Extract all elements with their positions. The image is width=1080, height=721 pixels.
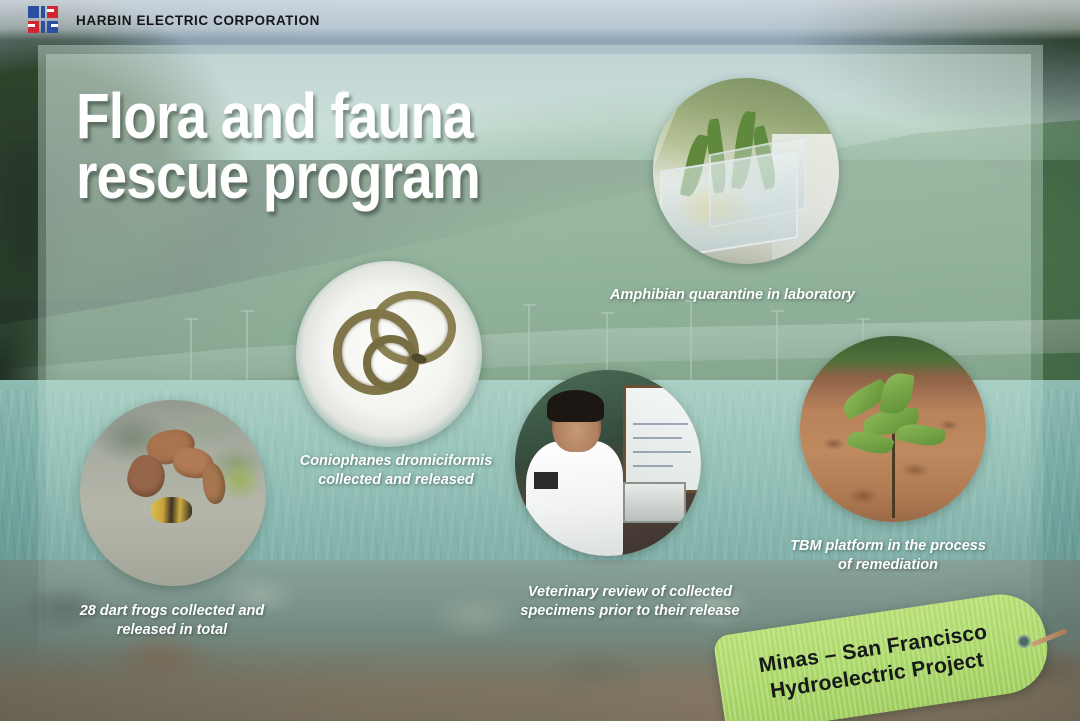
caption-veterinary-review: Veterinary review of collected specimens… [492,583,768,621]
photo-dart-frogs [80,400,266,586]
caption-vet-line-2: specimens prior to their release [520,603,739,619]
caption-tbm-remediation: TBM platform in the process of remediati… [762,537,1014,575]
caption-seed-line-1: TBM platform in the process [790,538,986,554]
photo-amphibian-quarantine [653,78,839,264]
caption-snake-line-2: collected and released [318,472,474,488]
brand-name: HARBIN ELECTRIC CORPORATION [76,13,320,28]
caption-snake-released: Coniophanes dromiciformis collected and … [280,452,512,490]
page-title-line-2: rescue program [76,146,480,206]
caption-frogs-line-2: released in total [117,622,227,638]
photo-tbm-remediation [800,336,986,522]
caption-seed-line-2: of remediation [838,557,938,573]
caption-snake-line-1: Coniophanes dromiciformis [300,453,493,469]
caption-vet-line-1: Veterinary review of collected [528,584,732,600]
harbin-electric-logo-icon [28,6,62,34]
photo-snake-released [296,261,482,447]
caption-frogs-line-1: 28 dart frogs collected and [80,603,265,619]
page-title: Flora and fauna rescue program [76,86,480,206]
photo-veterinary-review [515,370,701,556]
caption-dart-frogs: 28 dart frogs collected and released in … [52,602,292,640]
header-bar: HARBIN ELECTRIC CORPORATION [0,0,1080,40]
caption-amphibian-quarantine: Amphibian quarantine in laboratory [610,286,910,305]
poster-canvas: HARBIN ELECTRIC CORPORATION Flora and fa… [0,0,1080,721]
